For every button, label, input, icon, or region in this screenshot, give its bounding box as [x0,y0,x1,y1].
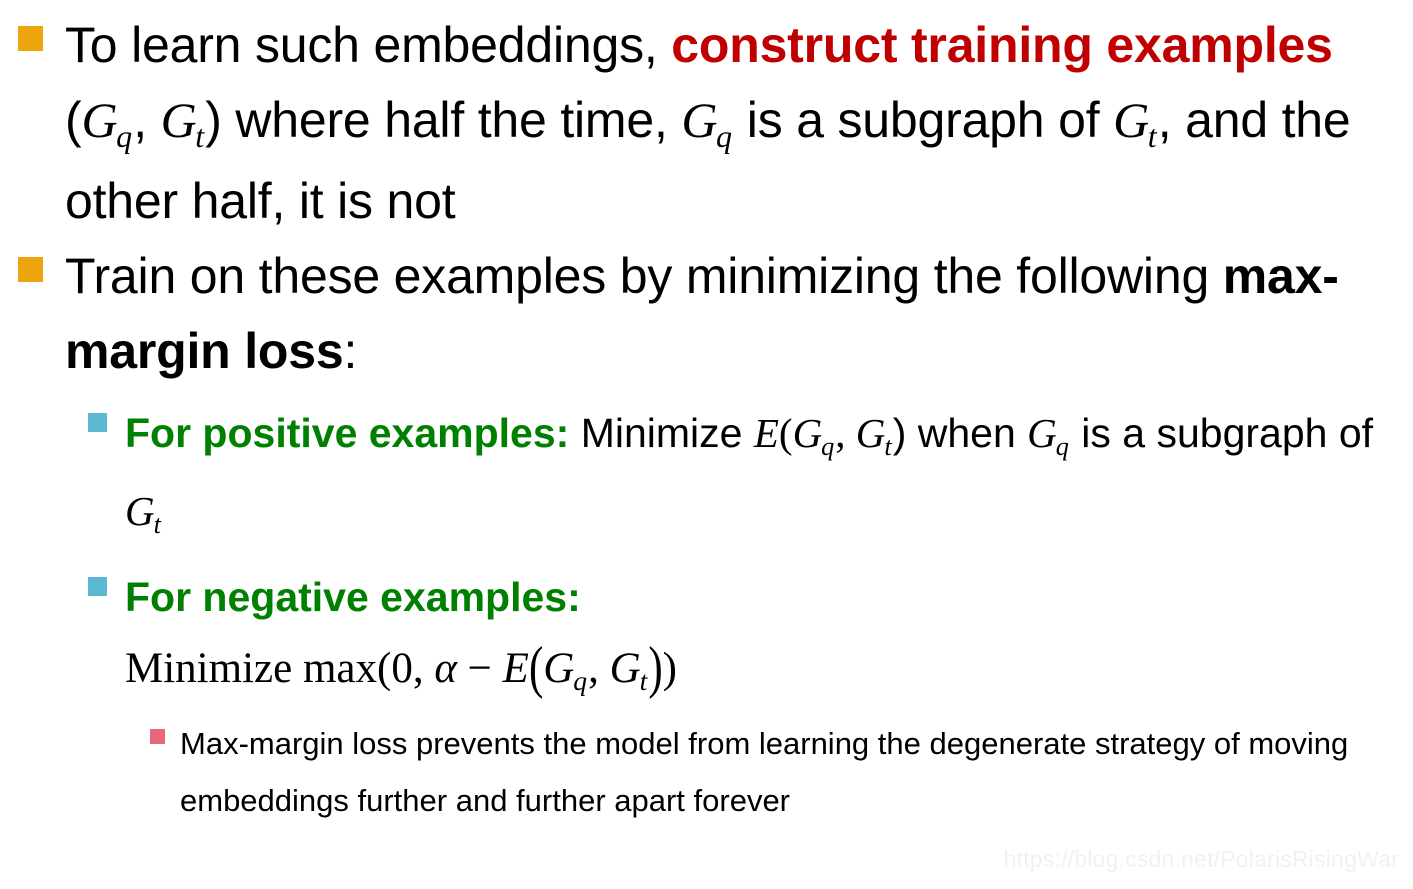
bullet-text: Max-margin loss prevents the model from … [180,715,1403,829]
math-symbol-alpha: α [434,645,457,692]
bullet-item-level1-train-max-margin-loss: Train on these examples by minimizing th… [18,239,1403,389]
formula-paren-open-big: ( [529,620,543,717]
bullet-text: To learn such embeddings, construct trai… [65,8,1403,239]
math-var-g-t-1: G [161,92,197,148]
bullet-item-level2-positive-examples: For positive examples: Minimize E(Gq, Gt… [88,397,1403,553]
bullet4-heading-line: For negative examples: [125,561,677,633]
formula-max: max [303,645,377,692]
formula-paren-close-big: ) [648,620,662,717]
watermark-url: https://blog.csdn.net/PolarisRisingWar [1004,846,1399,873]
square-bullet-icon [18,26,43,51]
formula-minus: − [457,645,503,692]
bullet4-emphasis-green: For negative examples: [125,574,581,620]
bullet2-segment-1: Train on these examples by minimizing th… [65,248,1223,304]
max-margin-loss-formula: Minimize max(0, α − E(Gq, Gt)) [125,633,677,709]
math-var-g-t-2: G [1113,92,1149,148]
formula-zero: 0 [391,645,413,692]
math-sub-q-1: q [116,118,132,154]
bullet3-paren-open: ( [779,410,793,456]
slide-canvas: To learn such embeddings, construct trai… [0,0,1413,889]
math-sub-q: q [573,665,587,696]
bullet1-segment-1: To learn such embeddings, [65,17,671,73]
bullet3-segment-1: Minimize [569,410,754,456]
math-sub-q-1: q [821,432,834,461]
bullet1-segment-4: ) where half the time, [205,92,681,148]
square-bullet-icon [88,577,107,596]
bullet1-emphasis-red: construct training examples [671,17,1332,73]
square-bullet-icon [18,257,43,282]
bullet-text: Train on these examples by minimizing th… [65,239,1403,389]
formula-comma-2: , [588,645,610,692]
formula-minimize: Minimize [125,645,292,692]
math-var-g-q-2: G [681,92,717,148]
math-sub-t-1: t [195,118,204,154]
math-sub-t: t [640,665,648,696]
bullet3-segment-2: , [835,410,856,456]
formula-comma-1: , [413,645,435,692]
square-bullet-icon [88,413,107,432]
math-var-g-q-1: G [81,92,117,148]
bullet3-segment-3: ) when [893,410,1027,456]
math-var-g-q-2: G [1027,410,1057,456]
math-var-e: E [503,645,529,692]
bullet-item-level3-degenerate-strategy-note: Max-margin loss prevents the model from … [150,715,1403,829]
bullet1-segment-2: ( [65,92,81,148]
math-var-g-q: G [543,645,574,692]
math-sub-t-2: t [154,510,161,539]
formula-paren-close: ) [663,645,677,692]
bullet-text: For negative examples: Minimize max(0, α… [125,561,677,709]
bullet1-segment-3: , [133,92,160,148]
bullet-item-level2-negative-examples: For negative examples: Minimize max(0, α… [88,561,1403,709]
math-var-g-q-1: G [793,410,823,456]
math-sub-t-1: t [884,432,891,461]
math-sub-t-2: t [1148,118,1157,154]
bullet3-emphasis-green: For positive examples: [125,410,569,456]
math-var-g-t-2: G [125,488,155,534]
bullet1-segment-5: is a subgraph of [733,92,1113,148]
bullet2-segment-2: : [343,323,357,379]
square-bullet-icon [150,729,165,744]
math-var-g-t: G [610,645,641,692]
bullet-item-level1-construct-training-examples: To learn such embeddings, construct trai… [18,8,1403,239]
formula-paren-open: ( [377,645,391,692]
bullet-text: For positive examples: Minimize E(Gq, Gt… [125,397,1403,553]
math-var-e-1: E [754,410,779,456]
math-sub-q-2: q [1056,432,1069,461]
math-var-g-t-1: G [856,410,886,456]
bullet3-segment-4: is a subgraph of [1070,410,1373,456]
math-sub-q-2: q [716,118,732,154]
